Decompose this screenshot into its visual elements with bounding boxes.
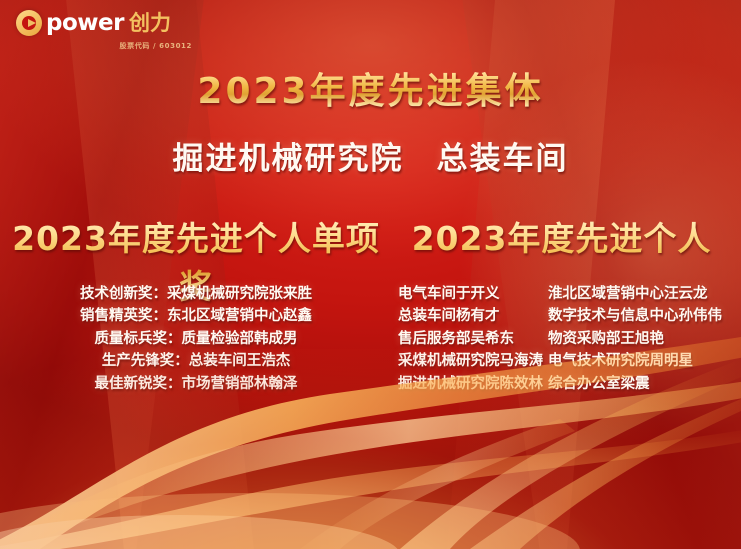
brand-name-en: power [46,12,124,35]
award-poster: power 创力 股票代码 / 603012 2023年度先进集体 掘进机械研究… [0,0,741,549]
list-item: 总装车间杨有才 数字技术与信息中心孙伟伟 [398,305,733,327]
page-title: 2023年度先进集体 [0,62,741,114]
list-item: 质量标兵奖：质量检验部韩成男 [0,328,392,350]
award-name-right: 淮北区域营销中心汪云龙 [548,283,733,305]
page-subtitle: 掘进机械研究院 总装车间 [0,133,741,178]
bottom-glow [0,349,741,549]
award-name-left: 售后服务部吴希东 [398,328,548,350]
award-name-right: 数字技术与信息中心孙伟伟 [548,305,733,327]
brand-logo: power 创力 股票代码 / 603012 [16,10,206,51]
brand-name-cn: 创力 [129,13,171,34]
award-name-left: 总装车间杨有才 [398,305,548,327]
list-item: 售后服务部吴希东 物资采购部王旭艳 [398,328,733,350]
list-item: 电气车间于开义 淮北区域营销中心汪云龙 [398,283,733,305]
list-item: 销售精英奖：东北区域营销中心赵鑫 [0,305,392,327]
award-name-right: 物资采购部王旭艳 [548,328,733,350]
award-name-left: 电气车间于开义 [398,283,548,305]
brand-logo-row: power 创力 [16,10,206,36]
brand-stock-code: 股票代码 / 603012 [16,41,206,51]
c-power-logo-icon [16,10,42,36]
list-item: 技术创新奖：采煤机械研究院张来胜 [0,283,392,305]
